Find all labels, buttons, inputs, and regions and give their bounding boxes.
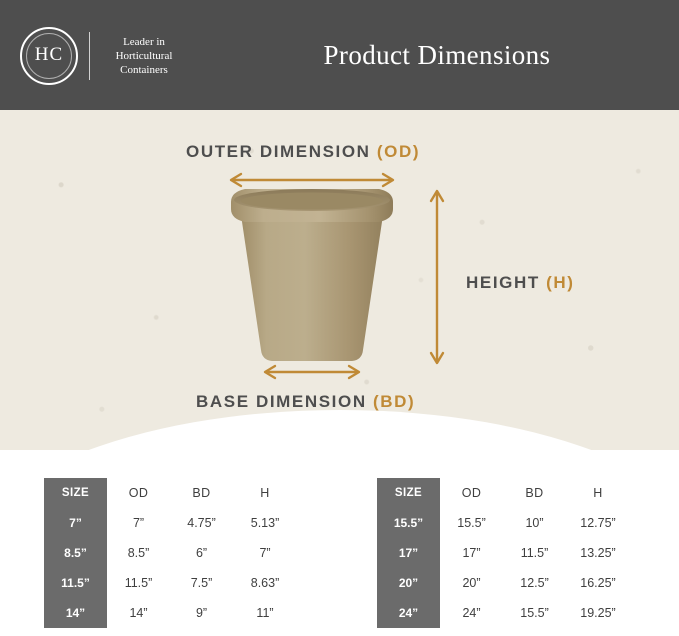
column-header-od: OD [107, 478, 170, 508]
row-od: 14” [107, 598, 170, 628]
column-header-od: OD [440, 478, 503, 508]
row-bd: 12.5” [503, 568, 566, 598]
column-header-h: H [233, 478, 297, 508]
row-od: 20” [440, 568, 503, 598]
height-label: HEIGHT (H) [466, 273, 575, 293]
column-header-bd: BD [503, 478, 566, 508]
bd-label-text: BASE DIMENSION [196, 392, 373, 411]
height-arrow [431, 191, 443, 363]
logo-tagline-line-3: Containers [101, 63, 187, 77]
od-label-text: OUTER DIMENSION [186, 142, 377, 161]
brand-logo: HC Leader in Horticultural Containers [20, 26, 195, 86]
row-od: 7” [107, 508, 170, 538]
logo-divider [89, 32, 90, 80]
od-label: OUTER DIMENSION (OD) [186, 142, 420, 162]
table-row: 8.5” 8.5” 6” 7” [44, 538, 297, 568]
row-size: 8.5” [44, 538, 107, 568]
bd-arrow [265, 366, 359, 378]
logo-tagline-line-2: Horticultural [101, 49, 187, 63]
row-h: 12.75” [566, 508, 630, 538]
row-h: 7” [233, 538, 297, 568]
logo-tagline: Leader in Horticultural Containers [101, 35, 187, 77]
column-header-bd: BD [170, 478, 233, 508]
logo-initials: HC [35, 44, 63, 66]
row-h: 19.25” [566, 598, 630, 628]
table-row: 15.5” 15.5” 10” 12.75” [377, 508, 630, 538]
row-h: 11” [233, 598, 297, 628]
row-bd: 10” [503, 508, 566, 538]
row-h: 16.25” [566, 568, 630, 598]
column-header-size: SIZE [44, 478, 107, 508]
pot-body-shape [241, 215, 383, 361]
product-dimensions-page: HC Leader in Horticultural Containers Pr… [0, 0, 679, 636]
row-h: 5.13” [233, 508, 297, 538]
diagram-panel: OUTER DIMENSION (OD) BASE DIMENSION (BD)… [0, 110, 679, 450]
row-bd: 15.5” [503, 598, 566, 628]
row-size: 14” [44, 598, 107, 628]
row-bd: 4.75” [170, 508, 233, 538]
row-size: 17” [377, 538, 440, 568]
table-row: 11.5” 11.5” 7.5” 8.63” [44, 568, 297, 598]
row-bd: 9” [170, 598, 233, 628]
dimension-table-right: SIZE OD BD H 15.5” 15.5” 10” 12.75” 17” … [377, 478, 630, 628]
height-label-text: HEIGHT [466, 273, 546, 292]
row-size: 7” [44, 508, 107, 538]
page-title: Product Dimensions [195, 0, 679, 110]
row-bd: 6” [170, 538, 233, 568]
table-row: 17” 17” 11.5” 13.25” [377, 538, 630, 568]
logo-tagline-line-1: Leader in [101, 35, 187, 49]
row-size: 24” [377, 598, 440, 628]
dimension-table-left: SIZE OD BD H 7” 7” 4.75” 5.13” 8.5” 8.5”… [44, 478, 297, 628]
bd-label: BASE DIMENSION (BD) [196, 392, 415, 412]
table-row: 14” 14” 9” 11” [44, 598, 297, 628]
table-header-row: SIZE OD BD H [44, 478, 297, 508]
row-od: 8.5” [107, 538, 170, 568]
header-bar: HC Leader in Horticultural Containers Pr… [0, 0, 679, 110]
row-od: 24” [440, 598, 503, 628]
table-row: 24” 24” 15.5” 19.25” [377, 598, 630, 628]
table-row: 7” 7” 4.75” 5.13” [44, 508, 297, 538]
row-bd: 7.5” [170, 568, 233, 598]
dimension-tables: SIZE OD BD H 7” 7” 4.75” 5.13” 8.5” 8.5”… [0, 450, 679, 636]
logo-circle-icon: HC [20, 27, 78, 85]
row-h: 8.63” [233, 568, 297, 598]
table-row: 20” 20” 12.5” 16.25” [377, 568, 630, 598]
column-header-size: SIZE [377, 478, 440, 508]
row-h: 13.25” [566, 538, 630, 568]
table-header-row: SIZE OD BD H [377, 478, 630, 508]
pot-inner-shape [241, 193, 383, 210]
bd-label-accent: (BD) [373, 392, 415, 411]
row-bd: 11.5” [503, 538, 566, 568]
height-label-accent: (H) [546, 273, 574, 292]
row-od: 11.5” [107, 568, 170, 598]
row-od: 17” [440, 538, 503, 568]
row-size: 11.5” [44, 568, 107, 598]
row-size: 15.5” [377, 508, 440, 538]
row-size: 20” [377, 568, 440, 598]
od-label-accent: (OD) [377, 142, 420, 161]
od-arrow [231, 174, 393, 186]
row-od: 15.5” [440, 508, 503, 538]
column-header-h: H [566, 478, 630, 508]
